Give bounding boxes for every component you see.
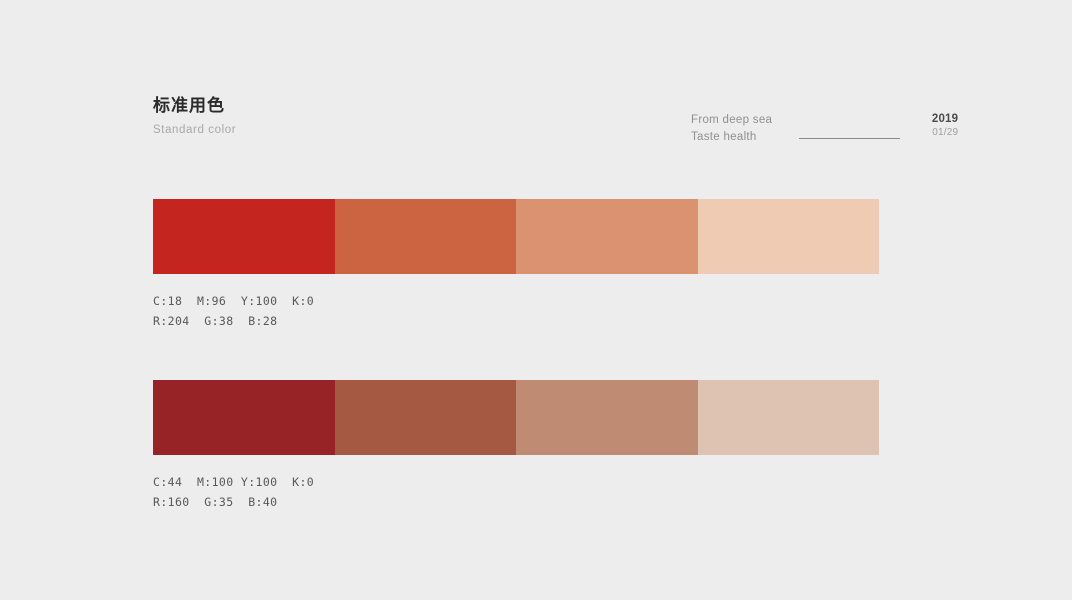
date-day: 01/29 bbox=[920, 126, 958, 139]
palette-row-deep: C:44 M:100 Y:100 K:0 R:160 G:35 B:40 bbox=[153, 380, 879, 512]
color-spec-page: 标准用色 Standard color From deep sea Taste … bbox=[0, 0, 1072, 600]
header-meta: From deep sea Taste health 2019 01/29 bbox=[691, 112, 958, 146]
swatch-base bbox=[153, 199, 335, 274]
swatch-tint-1 bbox=[335, 199, 517, 274]
tagline-line-1: From deep sea bbox=[691, 112, 772, 129]
swatch-tint-3 bbox=[698, 380, 880, 455]
rgb-label: R:204 G:38 B:28 bbox=[153, 311, 879, 331]
cmyk-label: C:18 M:96 Y:100 K:0 bbox=[153, 291, 879, 311]
page-title: 标准用色 bbox=[153, 96, 236, 116]
date-year: 2019 bbox=[920, 112, 958, 126]
primary-red-palette bbox=[153, 199, 879, 274]
color-spec: C:18 M:96 Y:100 K:0 R:204 G:38 B:28 bbox=[153, 291, 879, 331]
date-block: 2019 01/29 bbox=[920, 112, 958, 139]
color-spec: C:44 M:100 Y:100 K:0 R:160 G:35 B:40 bbox=[153, 472, 879, 512]
tagline: From deep sea Taste health bbox=[691, 112, 772, 146]
title-block: 标准用色 Standard color bbox=[153, 96, 236, 137]
page-subtitle: Standard color bbox=[153, 123, 236, 137]
swatch-tint-2 bbox=[516, 199, 698, 274]
deep-red-palette bbox=[153, 380, 879, 455]
cmyk-label: C:44 M:100 Y:100 K:0 bbox=[153, 472, 879, 492]
page-header: 标准用色 Standard color From deep sea Taste … bbox=[153, 96, 879, 156]
tagline-line-2: Taste health bbox=[691, 129, 772, 146]
swatch-base bbox=[153, 380, 335, 455]
palette-row-primary: C:18 M:96 Y:100 K:0 R:204 G:38 B:28 bbox=[153, 199, 879, 331]
swatch-tint-3 bbox=[698, 199, 880, 274]
swatch-tint-2 bbox=[516, 380, 698, 455]
header-divider bbox=[799, 138, 900, 139]
swatch-tint-1 bbox=[335, 380, 517, 455]
rgb-label: R:160 G:35 B:40 bbox=[153, 492, 879, 512]
